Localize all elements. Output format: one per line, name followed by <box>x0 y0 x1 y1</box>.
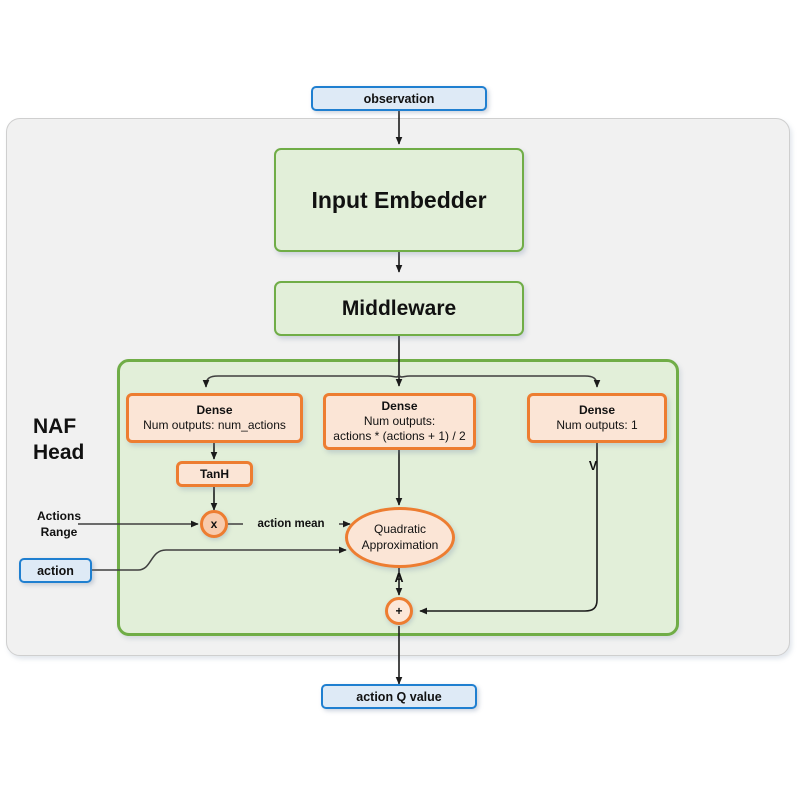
action-label: action <box>37 564 74 578</box>
dense-mid-line3: actions * (actions + 1) / 2 <box>333 429 465 444</box>
multiply-operator[interactable]: x <box>200 510 228 538</box>
dense-mid-line2: Num outputs: <box>364 414 435 429</box>
middleware-label: Middleware <box>342 297 456 321</box>
add-symbol: + <box>395 604 402 618</box>
value-text: V <box>589 459 597 473</box>
dense-right-title: Dense <box>579 403 615 418</box>
dense-left-box[interactable]: Dense Num outputs: num_actions <box>126 393 303 443</box>
middleware-box[interactable]: Middleware <box>274 281 524 336</box>
quadratic-approximation-ellipse[interactable]: Quadratic Approximation <box>345 507 455 568</box>
dense-left-line2: Num outputs: num_actions <box>143 418 286 433</box>
action-box[interactable]: action <box>19 558 92 583</box>
diagram-canvas: observation action action Q value Input … <box>0 0 800 800</box>
multiply-symbol: x <box>211 517 218 531</box>
action-q-value-box[interactable]: action Q value <box>321 684 477 709</box>
observation-box[interactable]: observation <box>311 86 487 111</box>
dense-right-box[interactable]: Dense Num outputs: 1 <box>527 393 667 443</box>
quadratic-label-line2: Approximation <box>362 538 439 554</box>
dense-mid-box[interactable]: Dense Num outputs: actions * (actions + … <box>323 393 476 450</box>
advantage-label: A <box>389 570 409 586</box>
input-embedder-box[interactable]: Input Embedder <box>274 148 524 252</box>
observation-label: observation <box>364 92 435 106</box>
dense-mid-title: Dense <box>381 399 417 414</box>
value-label: V <box>583 458 603 474</box>
tanh-label: TanH <box>200 467 229 482</box>
input-embedder-label: Input Embedder <box>311 187 486 214</box>
action-q-value-label: action Q value <box>356 690 441 704</box>
naf-head-title: NAF Head <box>33 412 125 468</box>
advantage-text: A <box>394 571 403 585</box>
quadratic-label-line1: Quadratic <box>374 522 426 538</box>
actions-range-label: Actions Range <box>26 506 92 542</box>
actions-range-line2: Range <box>41 524 78 540</box>
naf-head-title-line1: NAF Head <box>33 414 125 467</box>
add-operator[interactable]: + <box>385 597 413 625</box>
action-mean-label: action mean <box>243 515 339 533</box>
dense-right-line2: Num outputs: 1 <box>556 418 637 433</box>
action-mean-text: action mean <box>257 518 324 530</box>
actions-range-line1: Actions <box>37 508 81 524</box>
tanh-box[interactable]: TanH <box>176 461 253 487</box>
dense-left-title: Dense <box>196 403 232 418</box>
